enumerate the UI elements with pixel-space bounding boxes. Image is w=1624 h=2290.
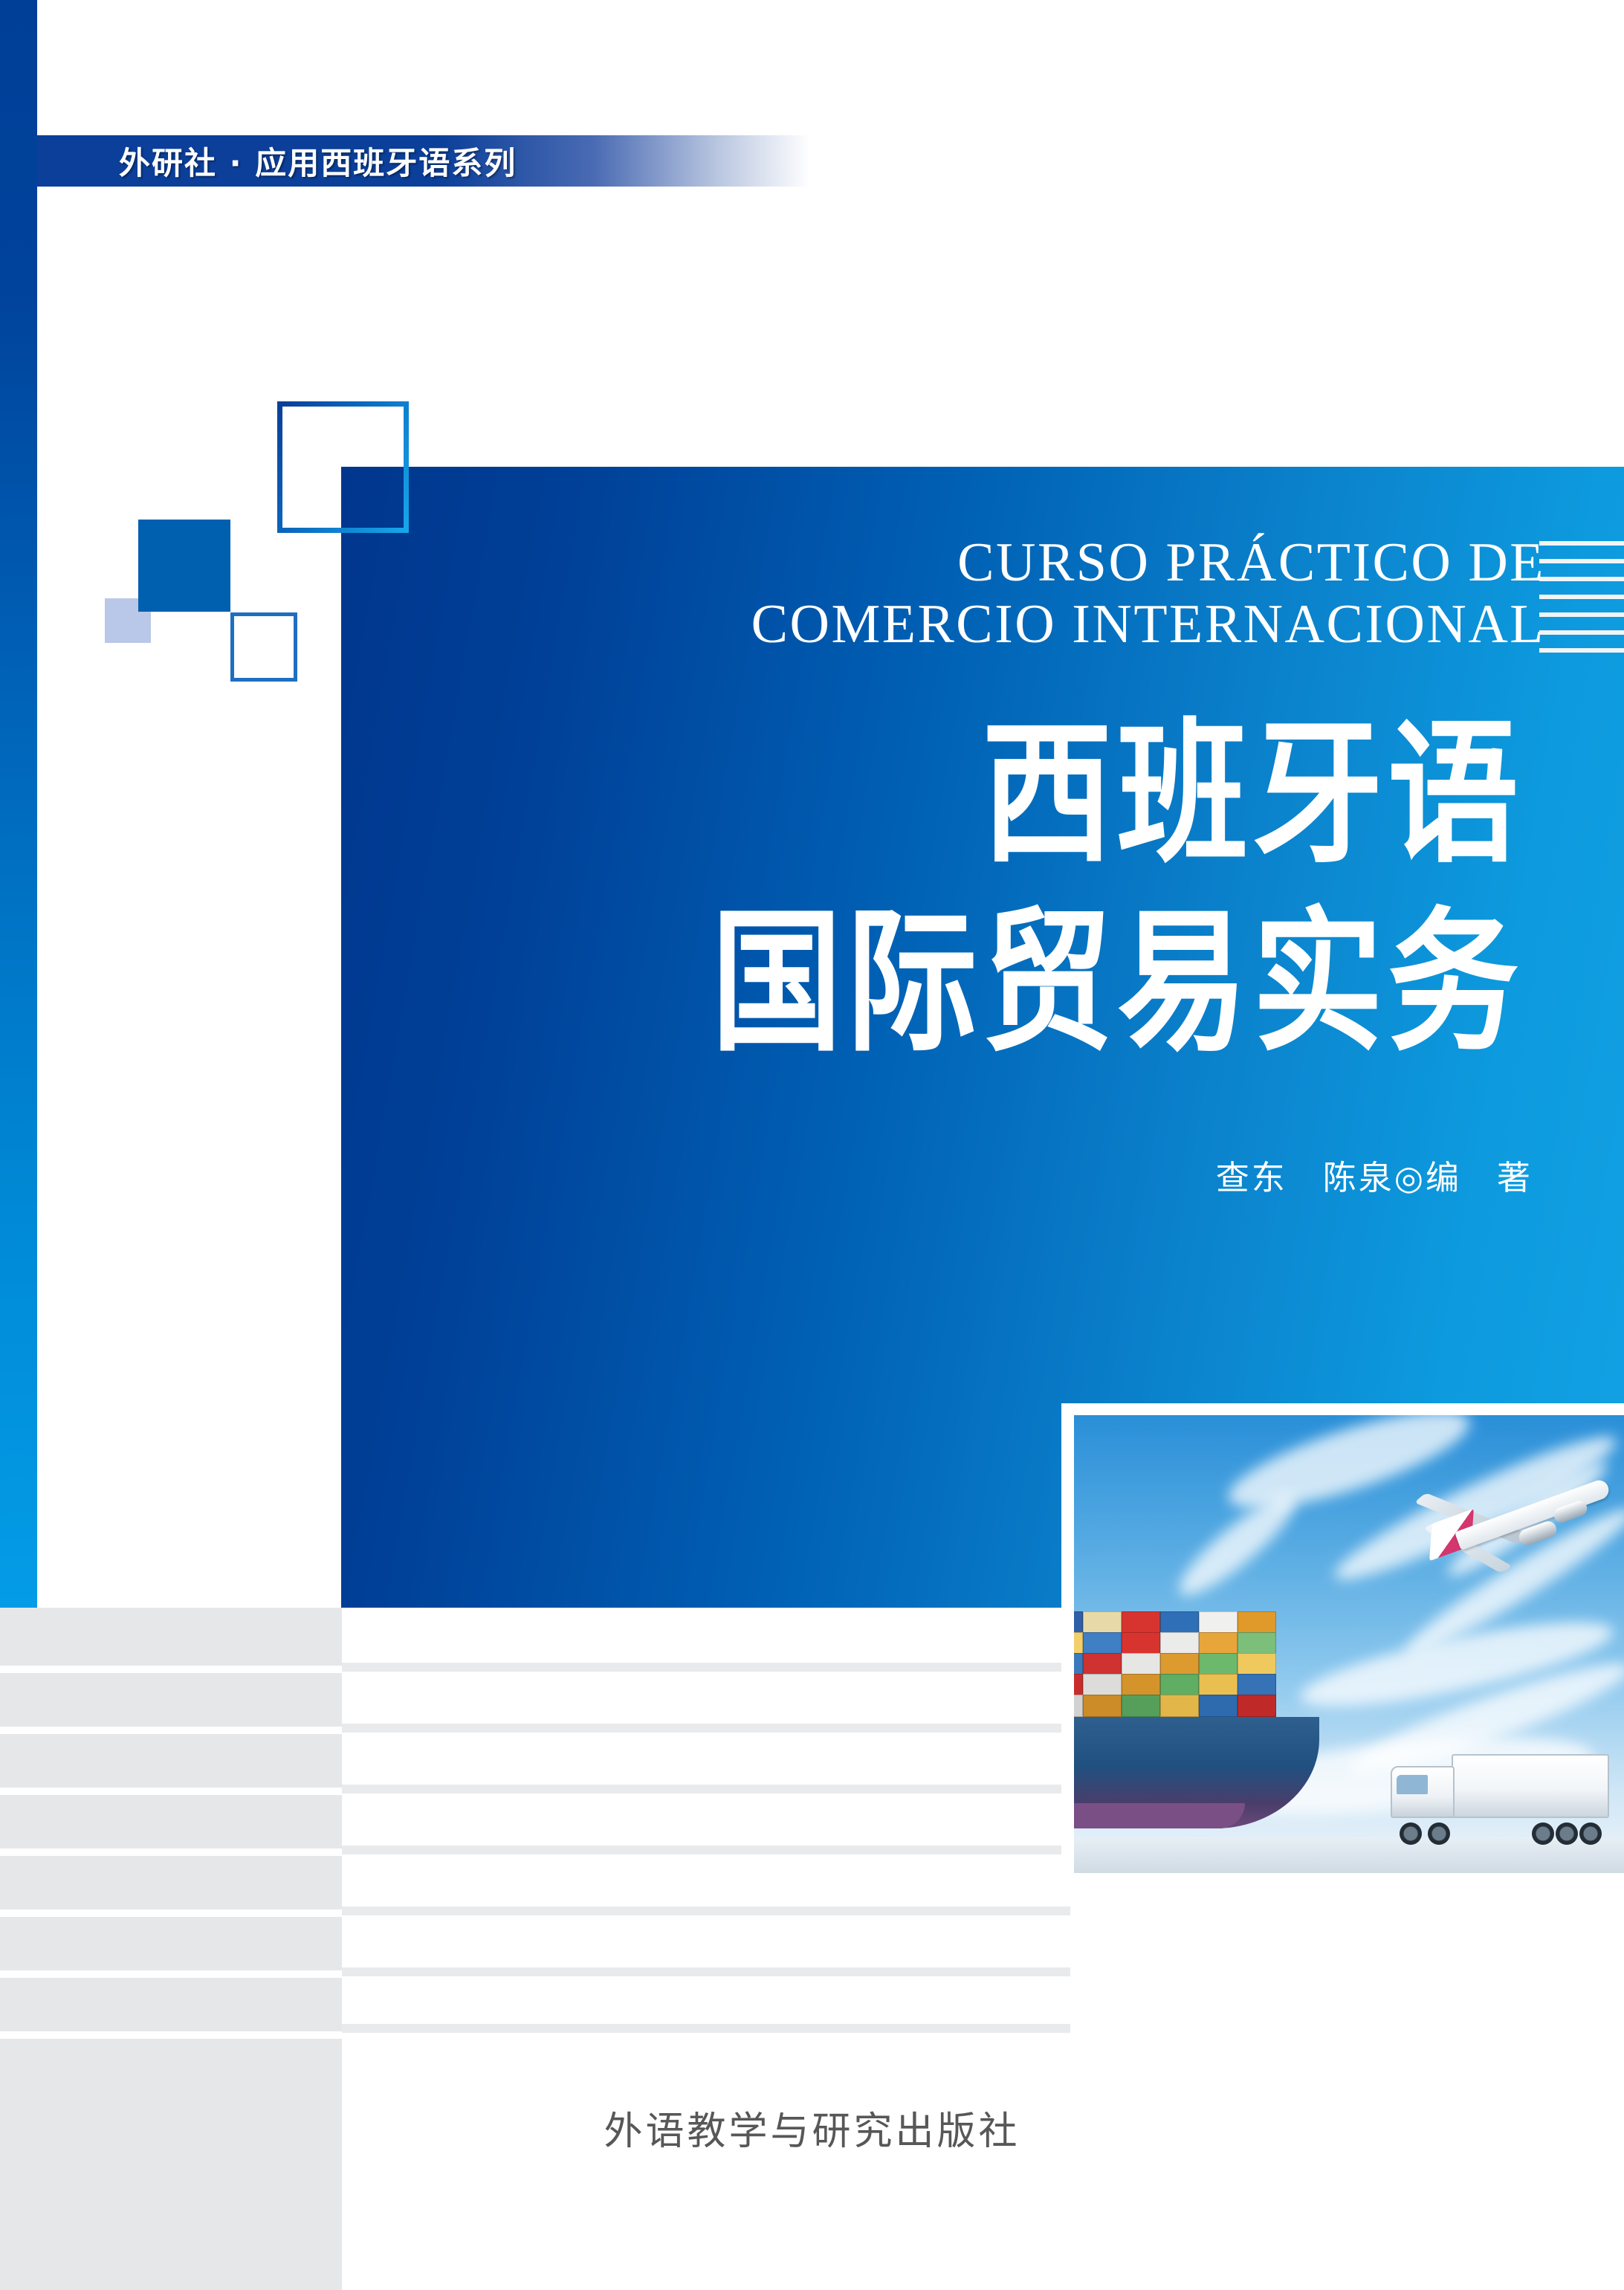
shipping-container bbox=[1160, 1653, 1199, 1675]
shipping-container bbox=[1238, 1632, 1276, 1655]
spanish-title: CURSO PRÁCTICO DE COMERCIO INTERNACIONAL bbox=[341, 532, 1545, 656]
ship-hull bbox=[1074, 1717, 1319, 1828]
shipping-container bbox=[1160, 1632, 1199, 1655]
shipping-container bbox=[1238, 1611, 1276, 1634]
left-accent-bar bbox=[0, 0, 37, 1611]
spanish-title-line-1: CURSO PRÁCTICO DE bbox=[341, 532, 1545, 594]
shipping-container bbox=[1199, 1674, 1238, 1696]
large-outline-square-decor bbox=[277, 401, 409, 533]
shipping-container bbox=[1083, 1632, 1122, 1655]
shipping-container bbox=[1083, 1653, 1122, 1675]
shipping-container bbox=[1199, 1653, 1238, 1675]
airplane-icon bbox=[1394, 1460, 1617, 1586]
shipping-container bbox=[1074, 1611, 1083, 1634]
shipping-container bbox=[1199, 1695, 1238, 1717]
series-banner-label: 外研社 · 应用西班牙语系列 bbox=[119, 138, 517, 184]
shipping-container bbox=[1083, 1674, 1122, 1696]
shipping-container bbox=[1160, 1674, 1199, 1696]
shipping-container bbox=[1122, 1653, 1160, 1675]
shipping-container bbox=[1083, 1695, 1122, 1717]
shipping-container bbox=[1199, 1632, 1238, 1655]
chinese-title-line-1: 西班牙语 bbox=[341, 701, 1523, 889]
shipping-container bbox=[1122, 1695, 1160, 1717]
accent-lines-decor bbox=[1539, 541, 1624, 666]
shipping-container bbox=[1122, 1632, 1160, 1655]
author-line: 查东 陈泉◎编 著 bbox=[341, 1151, 1533, 1199]
thin-line-pattern-decor bbox=[342, 1608, 1070, 2024]
chinese-title: 西班牙语 国际贸易实务 bbox=[341, 701, 1523, 1078]
gray-column-decor bbox=[0, 1608, 342, 2290]
cover-photo-frame bbox=[1061, 1403, 1624, 1873]
small-outline-square-decor bbox=[230, 612, 297, 682]
book-cover: 外研社 · 应用西班牙语系列 CURSO PRÁCTICO DE COMERCI… bbox=[0, 0, 1624, 2290]
shipping-container bbox=[1074, 1674, 1083, 1696]
shipping-container bbox=[1074, 1632, 1083, 1655]
logistics-photo bbox=[1074, 1415, 1624, 1873]
chinese-title-line-2: 国际贸易实务 bbox=[341, 889, 1523, 1077]
shipping-container bbox=[1160, 1611, 1199, 1634]
publisher-name: 外语教学与研究出版社 bbox=[0, 2100, 1624, 2155]
shipping-container bbox=[1199, 1611, 1238, 1634]
shipping-container bbox=[1238, 1653, 1276, 1675]
container-ship-icon bbox=[1074, 1643, 1319, 1828]
shipping-container bbox=[1160, 1695, 1199, 1717]
solid-blue-square-decor bbox=[138, 520, 230, 612]
delivery-truck-icon bbox=[1386, 1754, 1609, 1848]
shipping-container bbox=[1238, 1695, 1276, 1717]
shipping-container bbox=[1074, 1695, 1083, 1717]
shipping-container bbox=[1238, 1674, 1276, 1696]
shipping-container bbox=[1074, 1653, 1083, 1675]
shipping-container bbox=[1122, 1674, 1160, 1696]
shipping-container bbox=[1083, 1611, 1122, 1634]
shipping-container bbox=[1122, 1611, 1160, 1634]
spanish-title-line-2: COMERCIO INTERNACIONAL bbox=[341, 594, 1545, 656]
